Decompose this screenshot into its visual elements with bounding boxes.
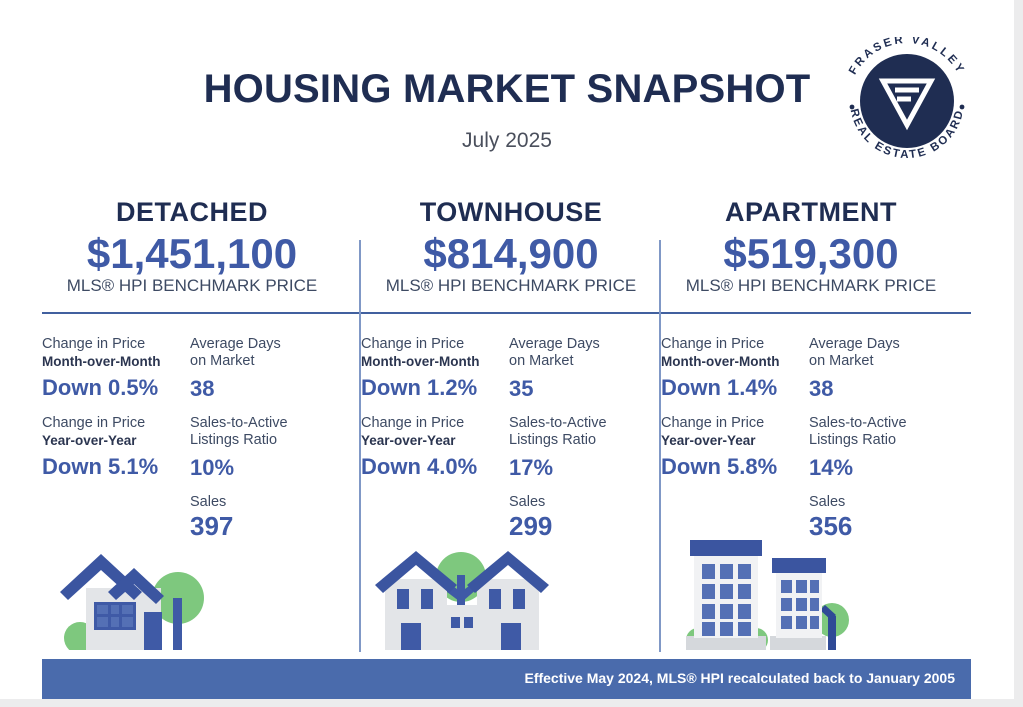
stat-sales-to-active-ratio: Sales-to-Active Listings Ratio 14%	[809, 415, 957, 482]
detached-house-illustration	[56, 540, 226, 655]
stat-label-sales-to-active: Sales-to-Active Listings Ratio	[809, 415, 957, 449]
stat-label-sales-to-active: Sales-to-Active Listings Ratio	[509, 415, 657, 449]
page-edge-bottom	[0, 699, 1023, 707]
stat-sales: Sales 299	[509, 494, 657, 541]
stat-label-avg-days: Average Days on Market	[190, 336, 338, 370]
benchmark-price-label-detached: MLS® HPI BENCHMARK PRICE	[42, 276, 342, 296]
stat-label-month-over-month: Month-over-Month	[661, 353, 809, 370]
stat-value-change-mom: Down 1.2%	[361, 373, 509, 403]
stat-value-change-yoy: Down 5.8%	[661, 452, 809, 482]
stats-townhouse: Change in Price Month-over-Month Down 1.…	[361, 336, 661, 541]
stat-label-change-in-price: Change in Price	[361, 336, 509, 353]
benchmark-price-townhouse: $814,900	[361, 230, 661, 278]
benchmark-price-detached: $1,451,100	[42, 230, 342, 278]
stat-row-1: Change in Price Month-over-Month Down 1.…	[661, 336, 961, 403]
stat-row-2: Change in Price Year-over-Year Down 4.0%…	[361, 415, 661, 482]
stat-label-year-over-year: Year-over-Year	[42, 432, 190, 449]
stat-avg-days-on-market: Average Days on Market 38	[190, 336, 338, 403]
stat-sales-to-active-ratio: Sales-to-Active Listings Ratio 10%	[190, 415, 338, 482]
stat-label-change-in-price: Change in Price	[661, 415, 809, 432]
stat-value-avg-days: 35	[509, 376, 657, 402]
stat-label-year-over-year: Year-over-Year	[361, 432, 509, 449]
stat-label-change-in-price: Change in Price	[42, 336, 190, 353]
stat-row-2: Change in Price Year-over-Year Down 5.1%…	[42, 415, 342, 482]
stats-apartment: Change in Price Month-over-Month Down 1.…	[661, 336, 961, 541]
benchmark-price-apartment: $519,300	[661, 230, 961, 278]
stat-label-sales: Sales	[509, 494, 657, 511]
stat-label-avg-days: Average Days on Market	[809, 336, 957, 370]
stat-change-mom: Change in Price Month-over-Month Down 0.…	[42, 336, 190, 403]
benchmark-price-label-apartment: MLS® HPI BENCHMARK PRICE	[661, 276, 961, 296]
column-title-detached: DETACHED	[42, 196, 342, 228]
stat-avg-days-on-market: Average Days on Market 35	[509, 336, 657, 403]
stat-label-sales: Sales	[190, 494, 338, 511]
stat-label-sales-to-active: Sales-to-Active Listings Ratio	[190, 415, 338, 449]
stats-detached: Change in Price Month-over-Month Down 0.…	[42, 336, 342, 541]
stat-change-yoy: Change in Price Year-over-Year Down 5.1%	[42, 415, 190, 482]
stat-value-avg-days: 38	[190, 376, 338, 402]
stat-label-month-over-month: Month-over-Month	[361, 353, 509, 370]
column-title-apartment: APARTMENT	[661, 196, 961, 228]
stat-value-sales: 397	[190, 511, 338, 541]
stat-row-1: Change in Price Month-over-Month Down 0.…	[42, 336, 342, 403]
stat-value-sales-to-active: 17%	[509, 455, 657, 481]
stat-change-mom: Change in Price Month-over-Month Down 1.…	[661, 336, 809, 403]
stat-sales: Sales 397	[190, 494, 338, 541]
stat-sales-to-active-ratio: Sales-to-Active Listings Ratio 17%	[509, 415, 657, 482]
column-title-townhouse: TOWNHOUSE	[361, 196, 661, 228]
townhouse-illustration	[373, 545, 553, 655]
footer-bar: Effective May 2024, MLS® HPI recalculate…	[42, 659, 971, 699]
stat-value-change-mom: Down 0.5%	[42, 373, 190, 403]
stat-label-change-in-price: Change in Price	[361, 415, 509, 432]
stat-label-avg-days: Average Days on Market	[509, 336, 657, 370]
stat-value-change-yoy: Down 5.1%	[42, 452, 190, 482]
page-edge-right	[1014, 0, 1023, 707]
stat-value-sales-to-active: 10%	[190, 455, 338, 481]
stat-label-sales: Sales	[809, 494, 957, 511]
stat-change-mom: Change in Price Month-over-Month Down 1.…	[361, 336, 509, 403]
stat-value-avg-days: 38	[809, 376, 957, 402]
benchmark-price-label-townhouse: MLS® HPI BENCHMARK PRICE	[361, 276, 661, 296]
apartment-buildings-illustration	[678, 532, 868, 655]
stat-value-change-mom: Down 1.4%	[661, 373, 809, 403]
stat-label-year-over-year: Year-over-Year	[661, 432, 809, 449]
stat-value-sales: 299	[509, 511, 657, 541]
stat-label-change-in-price: Change in Price	[661, 336, 809, 353]
stat-value-change-yoy: Down 4.0%	[361, 452, 509, 482]
infographic-page: HOUSING MARKET SNAPSHOT July 2025 FRASER…	[0, 0, 1014, 699]
stat-change-yoy: Change in Price Year-over-Year Down 5.8%	[661, 415, 809, 482]
stat-avg-days-on-market: Average Days on Market 38	[809, 336, 957, 403]
stat-row-2: Change in Price Year-over-Year Down 5.8%…	[661, 415, 961, 482]
stat-value-sales-to-active: 14%	[809, 455, 957, 481]
stat-change-yoy: Change in Price Year-over-Year Down 4.0%	[361, 415, 509, 482]
footer-note: Effective May 2024, MLS® HPI recalculate…	[524, 670, 955, 686]
stat-label-month-over-month: Month-over-Month	[42, 353, 190, 370]
stat-label-change-in-price: Change in Price	[42, 415, 190, 432]
stat-row-1: Change in Price Month-over-Month Down 1.…	[361, 336, 661, 403]
fraser-valley-real-estate-board-logo: FRASER VALLEY REAL ESTATE BOARD	[843, 37, 971, 165]
